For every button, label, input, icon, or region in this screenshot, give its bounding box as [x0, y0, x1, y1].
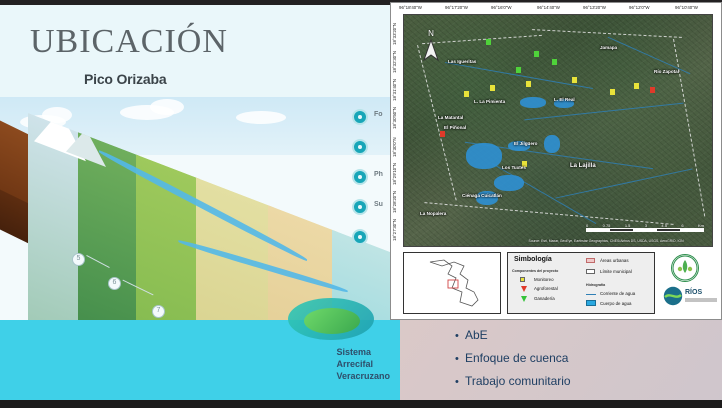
reef-caption: Sistema Arrecifal Veracruzano — [336, 346, 390, 382]
legend-symbol-ganaderia — [521, 296, 527, 302]
legend-symbol-limite-municipal — [586, 269, 595, 274]
water-body — [494, 175, 524, 191]
page-title: UBICACIÓN — [30, 23, 228, 61]
bullet-list: • AbE • Enfoque de cuenca • Trabajo comu… — [455, 328, 571, 397]
zone-icon-5[interactable] — [352, 229, 368, 245]
map-pin-monitoreo[interactable] — [610, 89, 615, 95]
map-pin-ganaderia[interactable] — [534, 51, 539, 57]
legend-symbol-agroforestal — [521, 286, 527, 292]
scale-bar-graphic — [586, 228, 704, 232]
scale-tick-2: 1.5 — [625, 223, 631, 228]
place-label-9: Los Tuxtes — [502, 165, 526, 170]
bullet-text-2: Enfoque de cuenca — [465, 351, 568, 365]
logo-group: RÍOS — [661, 252, 719, 314]
state-outline-shape — [422, 258, 484, 310]
rios-logo-icon — [663, 286, 683, 306]
map-y-tick-8: 18°27'30"N — [392, 219, 397, 241]
place-label-10: La Lajilla — [570, 163, 596, 169]
bullet-dot-icon: • — [455, 330, 465, 342]
map-pin-monitoreo[interactable] — [572, 77, 577, 83]
bullet-dot-icon: • — [455, 376, 465, 388]
map-texture — [404, 15, 712, 246]
map-legend: Simbología Componentes del proyecto Moni… — [507, 252, 655, 314]
map-scale-bar: 0 0.75 1.5 3 4.5 6 Km — [586, 223, 704, 232]
map-y-tick-1: 18°33'20"N — [392, 23, 397, 45]
legend-label-cuerpo-agua: Cuerpo de agua — [600, 301, 632, 306]
map-x-tick-6: 96°12'0"W — [629, 5, 650, 10]
map-y-tick-7: 18°28'20"N — [392, 191, 397, 213]
legend-label-limite-municipal: Límite municipal — [600, 269, 632, 274]
locator-minimap — [403, 252, 501, 314]
map-y-tick-5: 18°30'0"N — [392, 137, 397, 157]
north-label: N — [420, 29, 442, 38]
reef-caption-line-3: Veracruzano — [336, 370, 390, 382]
subtitle: Pico Orizaba — [84, 71, 166, 87]
place-label-11: Ciénaga Cuicatlán — [462, 193, 502, 198]
bottom-bar — [0, 400, 722, 408]
cloud-icon — [150, 99, 184, 115]
scale-tick-3: 3 — [645, 223, 647, 228]
map-x-tick-3: 96°16'0"W — [491, 5, 512, 10]
marker-7[interactable]: 7 — [152, 305, 165, 318]
place-label-2: Jamapa — [600, 45, 617, 50]
rios-logo-text: RÍOS — [685, 289, 702, 296]
map-y-tick-6: 18°29'10"N — [392, 163, 397, 185]
map-x-tick-7: 96°10'40"W — [675, 5, 698, 10]
map-y-tick-2: 18°32'30"N — [392, 51, 397, 73]
north-arrow-glyph — [420, 38, 442, 62]
reef-caption-line-1: Sistema — [336, 346, 390, 358]
legend-symbol-monitoreo — [520, 277, 525, 282]
bullet-dot-icon: • — [455, 353, 465, 365]
legend-symbol-corriente-agua — [586, 294, 596, 295]
legend-label-ganaderia: Ganadería — [534, 296, 555, 301]
water-body — [466, 143, 502, 169]
scale-tick-1: 0.75 — [603, 223, 611, 228]
legend-symbol-areas-urbanas — [586, 258, 595, 263]
proyecto-logo-icon — [671, 254, 699, 282]
place-label-12: La Nopalera — [420, 211, 446, 216]
legend-label-areas-urbanas: Áreas urbanas — [600, 258, 629, 263]
illustration-panel: Fo Ph Su 5 6 7 UBICACIÓN Pico Orizaba Si… — [0, 5, 400, 400]
map-pin-agroforestal[interactable] — [650, 87, 655, 93]
map-y-tick-3: 18°31'40"N — [392, 79, 397, 101]
satellite-map[interactable]: Las Igueritas Jamapa Río Zapotal L. La P… — [403, 14, 713, 247]
rios-logo-subtext — [685, 298, 717, 302]
zone-icon-1[interactable] — [352, 109, 368, 125]
map-pin-ganaderia[interactable] — [516, 67, 521, 73]
map-pin-monitoreo[interactable] — [490, 85, 495, 91]
place-label-4: L. La Pimienta — [474, 99, 505, 104]
map-y-tick-4: 18°30'50"N — [392, 107, 397, 129]
water-body — [520, 97, 546, 108]
map-x-tick-1: 96°18'40"W — [399, 5, 422, 10]
marker-6[interactable]: 6 — [108, 277, 121, 290]
zone-icon-2[interactable] — [352, 139, 368, 155]
map-x-tick-5: 96°13'20"W — [583, 5, 606, 10]
zone-icon-4[interactable] — [352, 199, 368, 215]
place-label-7: El Piñonal — [444, 125, 466, 130]
map-pin-monitoreo[interactable] — [526, 81, 531, 87]
legend-label-agroforestal: Agroforestal — [534, 286, 558, 291]
legend-section-project: Componentes del proyecto — [512, 269, 558, 273]
coral-reef-illustration — [282, 286, 378, 348]
map-pin-monitoreo[interactable] — [634, 83, 639, 89]
cloud-icon — [236, 111, 286, 124]
scale-tick-5: 6 — [681, 223, 683, 228]
scale-unit: Km — [698, 223, 704, 228]
legend-section-hydro: Hidrografía — [586, 283, 605, 287]
map-pin-ganaderia[interactable] — [486, 39, 491, 45]
map-x-tick-2: 96°17'20"W — [445, 5, 468, 10]
list-item: • AbE — [455, 328, 571, 342]
presentation-slide: Fo Ph Su 5 6 7 UBICACIÓN Pico Orizaba Si… — [0, 0, 722, 408]
scale-tick-0: 0 — [586, 223, 588, 228]
legend-label-corriente-agua: Corriente de agua — [600, 291, 635, 296]
marker-5[interactable]: 5 — [72, 253, 85, 266]
place-label-5: L. El Real — [554, 97, 575, 102]
place-label-1: Las Igueritas — [448, 59, 476, 64]
zone-icon-3[interactable] — [352, 169, 368, 185]
legend-symbol-cuerpo-agua — [586, 300, 596, 306]
map-attribution: Source: Esri, Maxar, GeoEye, Earthstar G… — [508, 239, 704, 243]
water-body — [544, 135, 560, 153]
place-label-6: La Matantal — [438, 115, 463, 120]
map-x-tick-4: 96°14'40"W — [537, 5, 560, 10]
north-arrow-icon: N — [420, 29, 442, 63]
map-inset[interactable]: 96°18'40"W 96°17'20"W 96°16'0"W 96°14'40… — [390, 2, 722, 320]
legend-label-monitoreo: Monitoreo — [534, 277, 554, 282]
map-pin-agroforestal[interactable] — [440, 131, 445, 137]
legend-title: Simbología — [514, 256, 552, 263]
reef-caption-line-2: Arrecifal — [336, 358, 390, 370]
place-label-3: Río Zapotal — [654, 69, 679, 74]
scale-tick-4: 4.5 — [661, 223, 667, 228]
place-label-8: El Jilgüero — [514, 141, 538, 146]
list-item: • Trabajo comunitario — [455, 374, 571, 388]
bullet-text-1: AbE — [465, 328, 488, 342]
map-pin-monitoreo[interactable] — [464, 91, 469, 97]
list-item: • Enfoque de cuenca — [455, 351, 571, 365]
bullet-text-3: Trabajo comunitario — [465, 374, 571, 388]
map-pin-ganaderia[interactable] — [552, 59, 557, 65]
